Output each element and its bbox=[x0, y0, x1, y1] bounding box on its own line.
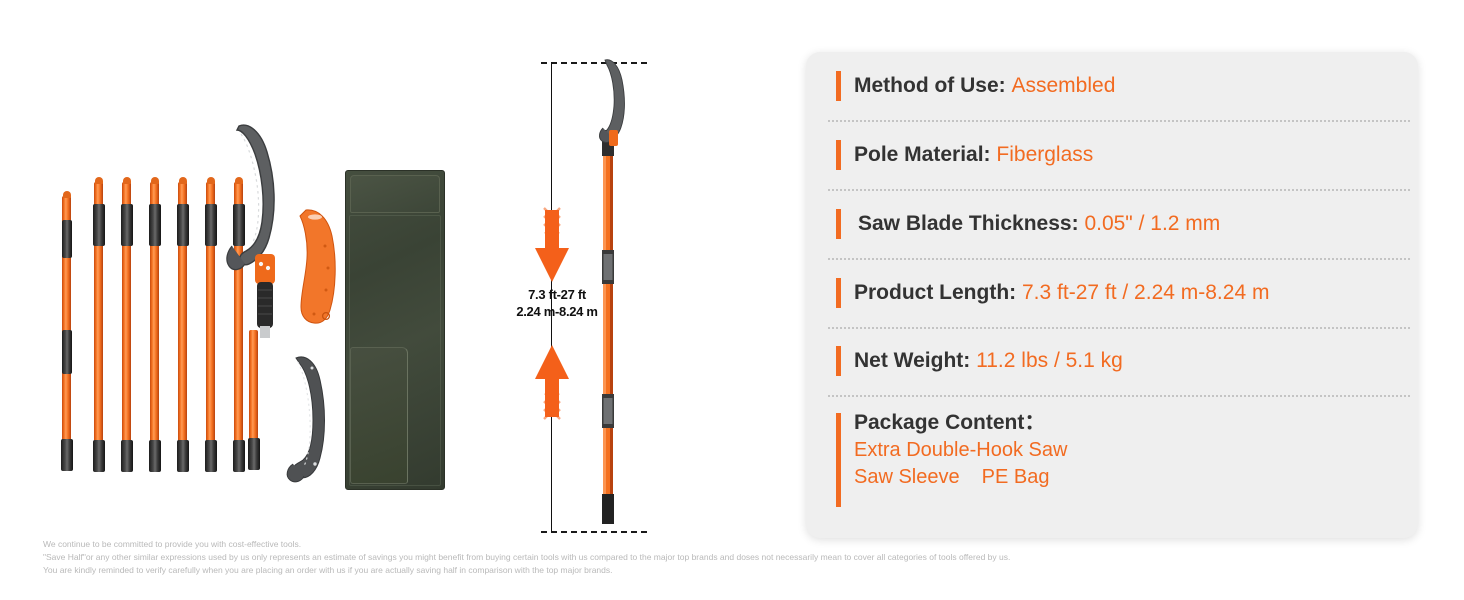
pole-end-cap bbox=[177, 440, 189, 472]
disclaimer-line: "Save Half"or any other similar expressi… bbox=[43, 551, 1303, 564]
package-content-title: Package Content： bbox=[854, 409, 1067, 437]
pole-tip-cap bbox=[63, 191, 71, 198]
pole-section bbox=[94, 182, 103, 470]
accent-bar bbox=[836, 140, 841, 170]
pole-tip-cap bbox=[95, 177, 103, 184]
saw-sleeve-icon bbox=[288, 206, 340, 326]
spec-label: Method of Use: bbox=[854, 74, 1006, 97]
spec-label: Saw Blade Thickness: bbox=[858, 212, 1079, 235]
pole-tip-cap bbox=[151, 177, 159, 184]
bag-flap bbox=[350, 175, 440, 213]
pole-tip-cap bbox=[207, 177, 215, 184]
spec-row-pole-material: Pole Material: Fiberglass bbox=[806, 120, 1418, 189]
pole-end-cap bbox=[61, 439, 73, 471]
spec-label: Pole Material: bbox=[854, 143, 991, 166]
pole-collar bbox=[177, 204, 189, 246]
arrow-down-icon bbox=[531, 200, 573, 282]
spec-label-value: Method of Use: Assembled bbox=[836, 73, 1115, 99]
pole-section bbox=[178, 182, 187, 470]
accent-bar bbox=[836, 209, 841, 239]
pole-end-cap bbox=[121, 440, 133, 472]
pole-end-cap bbox=[205, 440, 217, 472]
accent-bar bbox=[836, 71, 841, 101]
package-content-item-row: Saw SleevePE Bag bbox=[854, 464, 1067, 491]
pole-end-cap bbox=[149, 440, 161, 472]
spec-label-value: Net Weight: 11.2 lbs / 5.1 kg bbox=[836, 348, 1123, 374]
spec-value: 11.2 lbs / 5.1 kg bbox=[976, 349, 1123, 372]
pole-tip-cap bbox=[179, 177, 187, 184]
arrow-up-icon bbox=[531, 345, 573, 427]
package-content-item: Extra Double-Hook Saw bbox=[854, 437, 1067, 464]
spec-value: Fiberglass bbox=[996, 143, 1093, 166]
extra-double-hook-saw-blade-icon bbox=[282, 352, 338, 484]
pole-collar bbox=[93, 204, 105, 246]
pole-collar bbox=[121, 204, 133, 246]
specifications-panel: Method of Use: Assembled Pole Material: … bbox=[806, 52, 1418, 538]
spec-value: Assembled bbox=[1012, 74, 1116, 97]
spec-label-value: Pole Material: Fiberglass bbox=[836, 142, 1093, 168]
package-content-item: Saw Sleeve bbox=[854, 466, 960, 488]
dimension-bottom-guide bbox=[541, 531, 647, 533]
accent-bar bbox=[836, 413, 841, 507]
spec-row-product-length: Product Length: 7.3 ft-27 ft / 2.24 m-8.… bbox=[806, 258, 1418, 327]
spec-row-saw-blade-thickness: Saw Blade Thickness: 0.05" / 1.2 mm bbox=[806, 189, 1418, 258]
package-content-item: PE Bag bbox=[982, 466, 1050, 488]
dimension-diagram: 7.3 ft-27 ft 2.24 m-8.24 m bbox=[495, 0, 725, 600]
pole-section bbox=[122, 182, 131, 470]
disclaimer-line: We continue to be committed to provide y… bbox=[43, 538, 1303, 551]
spec-row-method-of-use: Method of Use: Assembled bbox=[806, 52, 1418, 120]
spec-label: Product Length: bbox=[854, 281, 1016, 304]
disclaimer-line: You are kindly reminded to verify carefu… bbox=[43, 564, 1303, 577]
pole-section bbox=[62, 196, 71, 468]
spec-label-value: Product Length: 7.3 ft-27 ft / 2.24 m-8.… bbox=[836, 280, 1269, 306]
accent-bar bbox=[836, 346, 841, 376]
accent-bar bbox=[836, 278, 841, 308]
disclaimer: We continue to be committed to provide y… bbox=[43, 538, 1303, 577]
spec-label-value: Saw Blade Thickness: 0.05" / 1.2 mm bbox=[836, 211, 1220, 237]
pole-end-cap bbox=[233, 440, 245, 472]
spec-value: 7.3 ft-27 ft / 2.24 m-8.24 m bbox=[1022, 281, 1269, 304]
package-content-block: Package Content： Extra Double-Hook Saw S… bbox=[836, 409, 1067, 491]
pole-section bbox=[150, 182, 159, 470]
spec-value: 0.05" / 1.2 mm bbox=[1084, 212, 1220, 235]
assembled-saw-head-icon bbox=[595, 56, 635, 146]
pole-end-cap bbox=[93, 440, 105, 472]
bag-pocket bbox=[350, 347, 408, 484]
pole-collar bbox=[62, 220, 72, 258]
pole-collar bbox=[149, 204, 161, 246]
pole-tip-cap bbox=[123, 177, 131, 184]
storage-bag bbox=[345, 170, 445, 490]
spec-row-package-content: Package Content： Extra Double-Hook Saw S… bbox=[806, 395, 1418, 535]
spec-label: Net Weight: bbox=[854, 349, 970, 372]
pole-end-cap bbox=[248, 438, 260, 470]
pole-section bbox=[206, 182, 215, 470]
spec-row-net-weight: Net Weight: 11.2 lbs / 5.1 kg bbox=[806, 327, 1418, 395]
pole-collar bbox=[62, 330, 72, 374]
pole-section bbox=[249, 330, 258, 470]
